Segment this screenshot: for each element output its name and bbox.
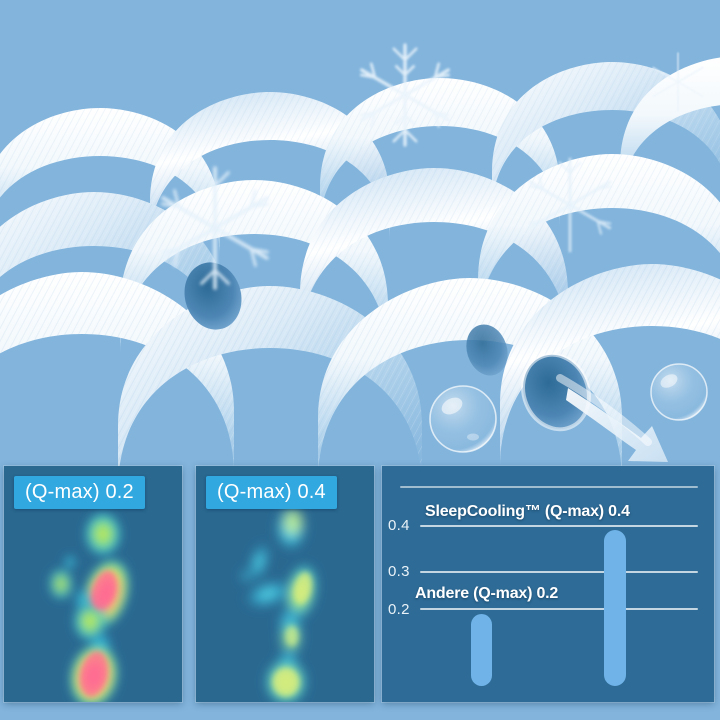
qmax-bar-chart: 0.4 0.3 0.2 SleepCooling™ (Q-max) 0.4 An…	[382, 466, 714, 702]
ytick-0-3: 0.3	[388, 564, 410, 579]
label-sleepcooling: SleepCooling™ (Q-max) 0.4	[425, 504, 630, 520]
water-bubble	[430, 386, 496, 452]
comparison-panels: (Q-max) 0.2	[0, 466, 720, 706]
qmax-bar-chart-panel: 0.4 0.3 0.2 SleepCooling™ (Q-max) 0.4 An…	[382, 466, 714, 702]
gridline-0-2	[420, 608, 698, 610]
ytick-0-4: 0.4	[388, 518, 410, 533]
label-andere: Andere (Q-max) 0.2	[415, 586, 558, 602]
fabric-illustration	[0, 0, 720, 478]
gridline-0-4	[420, 525, 698, 527]
bar-andere	[471, 614, 492, 686]
screenshot-root: (Q-max) 0.2	[0, 0, 720, 720]
hero-fabric-image	[0, 0, 720, 478]
qmax-badge-high: (Q-max) 0.4	[206, 476, 337, 509]
gridline-0-3	[420, 571, 698, 573]
water-bubble	[651, 364, 707, 420]
chart-top-rule	[400, 486, 698, 488]
qmax-badge-low: (Q-max) 0.2	[14, 476, 145, 509]
ytick-0-2: 0.2	[388, 602, 410, 617]
thermal-panel-high: (Q-max) 0.4	[196, 466, 374, 702]
bar-sleepcooling	[604, 530, 626, 686]
thermal-panel-low: (Q-max) 0.2	[4, 466, 182, 702]
